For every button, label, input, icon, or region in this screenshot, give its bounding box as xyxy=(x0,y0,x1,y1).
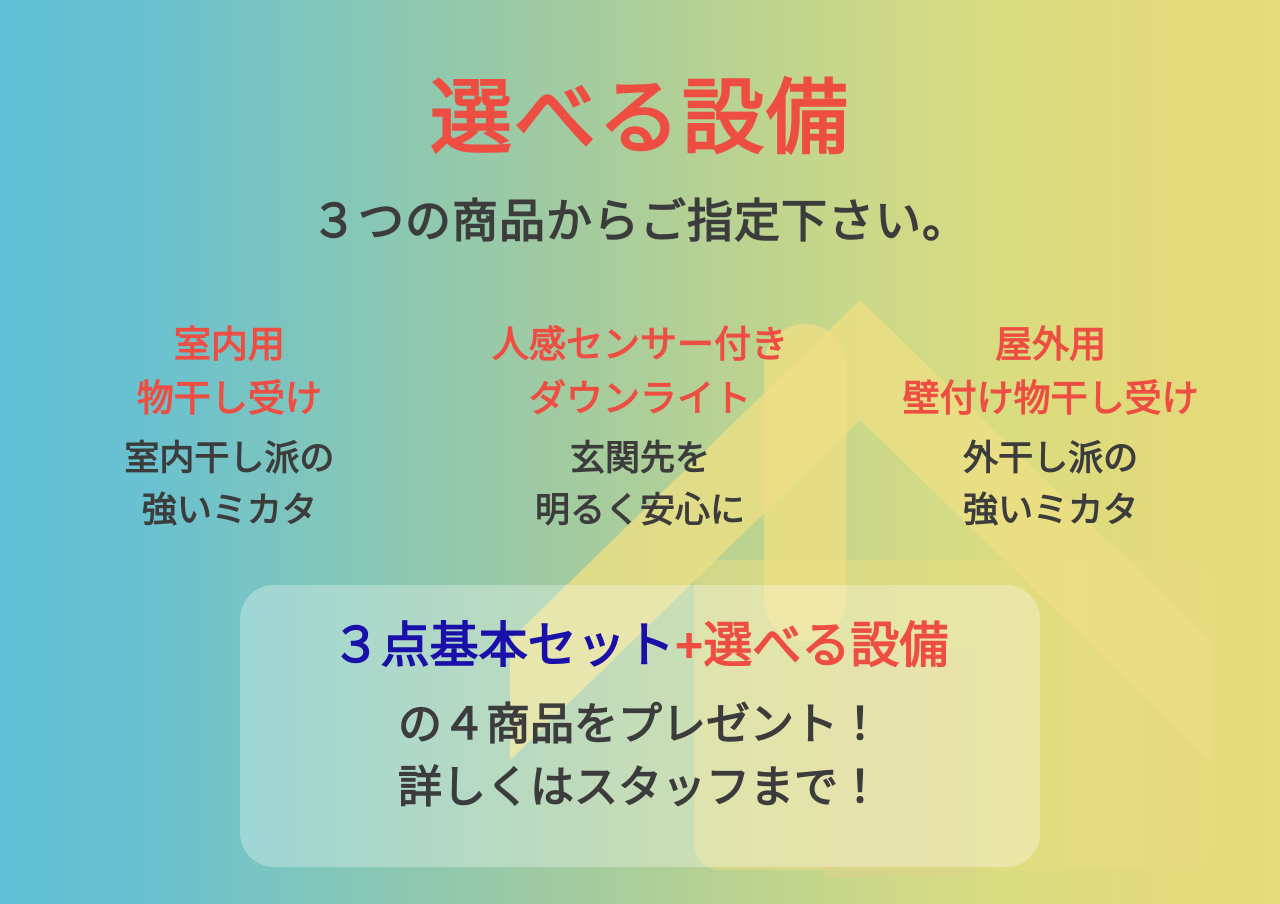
promo-headline-plus: + xyxy=(675,619,704,673)
promo-line-contact-staff: 詳しくはスタッフまで！ xyxy=(0,766,1280,810)
option-card-motion-sensor-downlight: 人感センサー付き ダウンライト 玄関先を 明るく安心に xyxy=(435,318,846,537)
promo-headline-optional-equipment: 選べる設備 xyxy=(703,619,948,673)
promo-headline: ３点基本セット+選べる設備 xyxy=(0,622,1280,671)
page-title: 選べる設備 xyxy=(0,78,1280,160)
option-description: 玄関先を 明るく安心に xyxy=(439,433,842,537)
option-title: 屋外用 壁付け物干し受け xyxy=(849,318,1252,425)
option-title: 人感センサー付き ダウンライト xyxy=(439,318,842,425)
promo-headline-base-set: ３点基本セット xyxy=(332,619,675,673)
poster-content: 選べる設備 ３つの商品からご指定下さい。 室内用 物干し受け 室内干し派の 強い… xyxy=(0,0,1280,904)
option-card-indoor-dryer-rack: 室内用 物干し受け 室内干し派の 強いミカタ xyxy=(24,318,435,537)
promo-line-gift: の４商品をプレゼント！ xyxy=(0,703,1280,747)
promo-poster: 選べる設備 ３つの商品からご指定下さい。 室内用 物干し受け 室内干し派の 強い… xyxy=(0,0,1280,904)
option-title: 室内用 物干し受け xyxy=(28,318,431,425)
page-subtitle: ３つの商品からご指定下さい。 xyxy=(0,198,1280,244)
option-card-outdoor-wall-dryer-rack: 屋外用 壁付け物干し受け 外干し派の 強いミカタ xyxy=(845,318,1256,537)
option-description: 外干し派の 強いミカタ xyxy=(849,433,1252,537)
option-list: 室内用 物干し受け 室内干し派の 強いミカタ 人感センサー付き ダウンライト 玄… xyxy=(24,318,1256,537)
option-description: 室内干し派の 強いミカタ xyxy=(28,433,431,537)
